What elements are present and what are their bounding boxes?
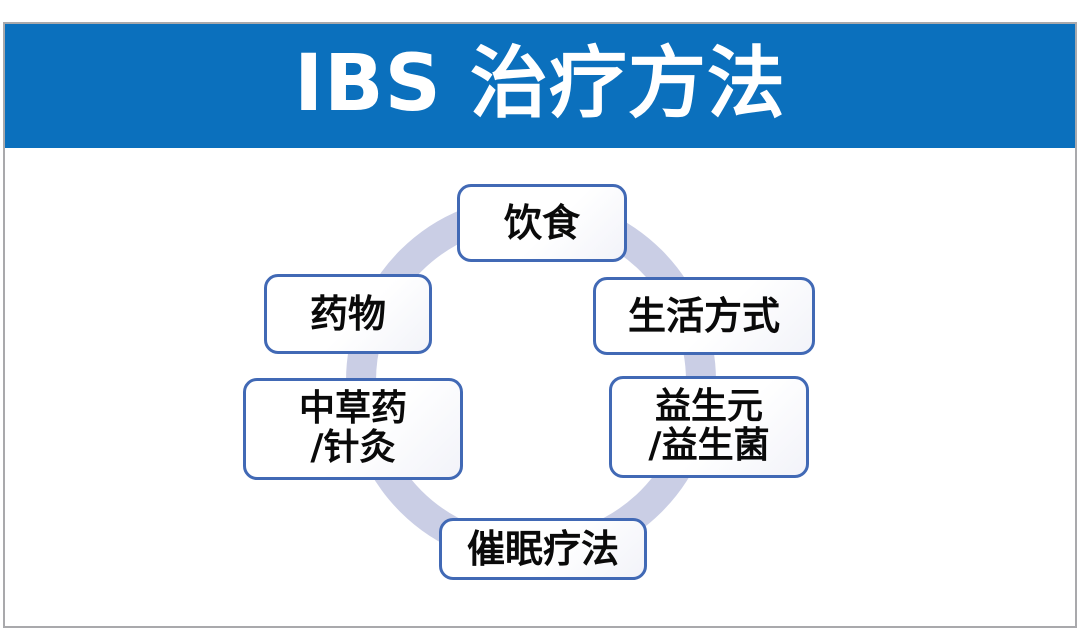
node-hypnosis-label: 催眠疗法 xyxy=(467,530,619,569)
node-prebiotics[interactable]: 益生元 /益生菌 xyxy=(609,376,809,478)
node-hypnosis[interactable]: 催眠疗法 xyxy=(439,518,647,580)
header-banner: IBS 治疗方法 xyxy=(5,24,1075,148)
page-title: IBS 治疗方法 xyxy=(294,45,786,123)
node-diet-label: 饮食 xyxy=(504,204,580,243)
node-prebiotics-label: 益生元 /益生菌 xyxy=(648,388,769,466)
node-lifestyle-label: 生活方式 xyxy=(628,297,780,336)
node-herbal[interactable]: 中草药 /针灸 xyxy=(243,378,463,480)
node-medication[interactable]: 药物 xyxy=(264,274,432,354)
node-herbal-label: 中草药 /针灸 xyxy=(299,390,407,468)
node-medication-label: 药物 xyxy=(310,295,386,334)
node-diet[interactable]: 饮食 xyxy=(457,184,627,262)
slide: IBS 治疗方法 饮食 生活方式 益生元 /益生菌 催眠疗法 中草药 /针灸 药… xyxy=(0,0,1080,631)
node-lifestyle[interactable]: 生活方式 xyxy=(593,277,815,355)
treatment-cycle-diagram: 饮食 生活方式 益生元 /益生菌 催眠疗法 中草药 /针灸 药物 xyxy=(5,150,1075,626)
